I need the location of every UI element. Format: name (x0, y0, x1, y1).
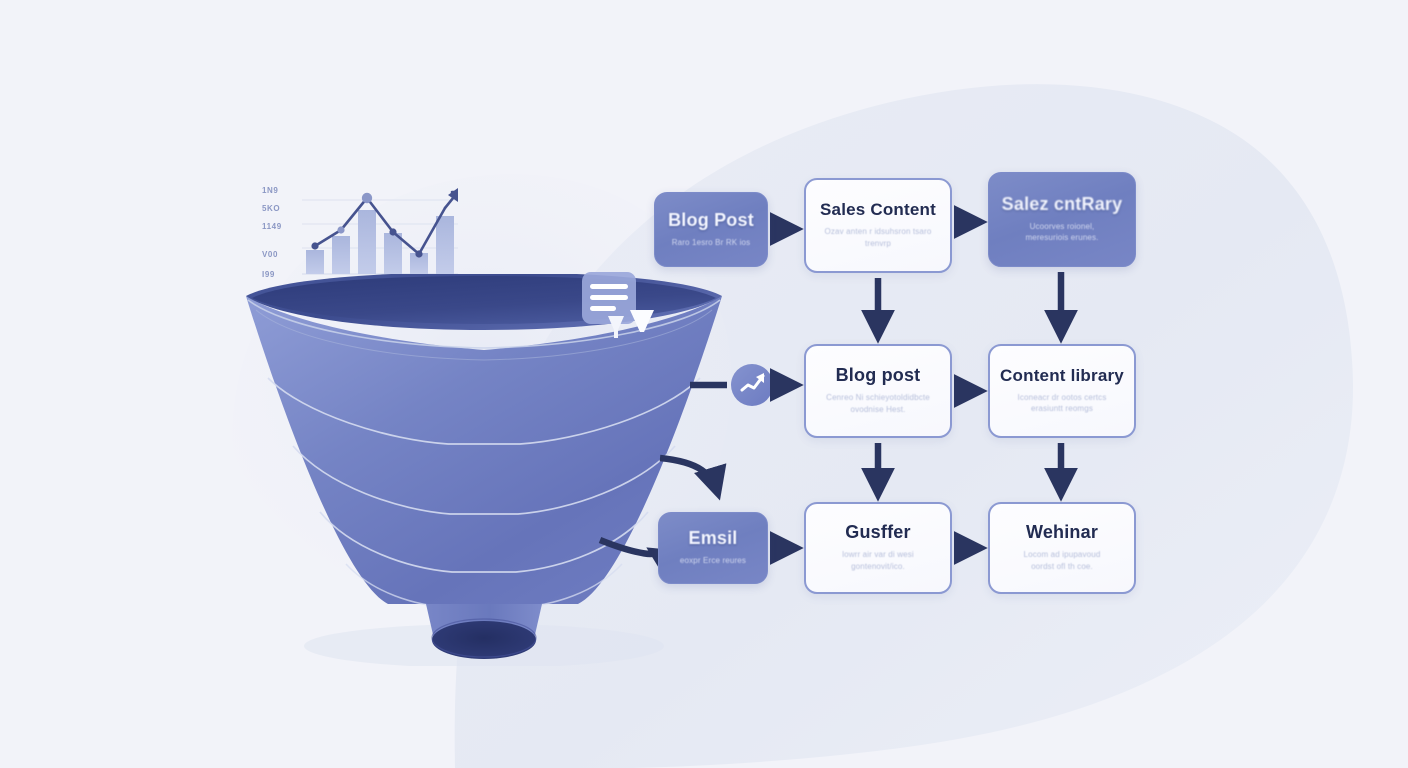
card-title: Blog Post (668, 211, 754, 230)
card-email[interactable]: Emsil eoxpr Erce reures (658, 512, 768, 584)
card-subtitle: Locom ad ipupavoud oordst ofl th coe. (1024, 549, 1101, 572)
card-title: Gusffer (845, 523, 910, 542)
card-subtitle: Cenreo Ni schieyotoldidbcte ovodnise Hes… (826, 392, 930, 415)
card-blog-post-top[interactable]: Blog Post Raro 1esro Br RK ios (654, 192, 768, 267)
card-subtitle: Ucoorves roionel, meresuriois erunes. (1025, 221, 1098, 244)
card-content-library[interactable]: Content library Iconeacr dr ootos certcs… (988, 344, 1136, 438)
card-title: Content library (1000, 367, 1124, 385)
diagram-canvas: 1N9 5KO 1149 V00 I99 (0, 0, 1408, 768)
card-title: Blog post (836, 366, 921, 385)
card-title: Salez cntRary (1002, 195, 1123, 214)
card-blog-post[interactable]: Blog post Cenreo Ni schieyotoldidbcte ov… (804, 344, 952, 438)
card-subtitle: Ozav anten r idsuhsron tsaro trenvrp (818, 226, 938, 249)
card-subtitle: Raro 1esro Br RK ios (672, 237, 751, 249)
card-title: Wehinar (1026, 523, 1098, 542)
arrow-funnel-to-email-lower (600, 540, 654, 554)
arrow-funnel-to-email-upper (660, 458, 718, 494)
card-subtitle: lowrr air var di wesi gontenovit/ico. (842, 549, 914, 572)
card-webinar[interactable]: Wehinar Locom ad ipupavoud oordst ofl th… (988, 502, 1136, 594)
card-gated-offer[interactable]: Gusffer lowrr air var di wesi gontenovit… (804, 502, 952, 594)
connector-arrows (0, 0, 1408, 768)
card-title: Emsil (688, 529, 737, 548)
card-sales-content[interactable]: Sales Content Ozav anten r idsuhsron tsa… (804, 178, 952, 273)
card-subtitle: eoxpr Erce reures (680, 555, 746, 567)
card-title: Sales Content (820, 201, 936, 219)
card-sales-library[interactable]: Salez cntRary Ucoorves roionel, meresuri… (988, 172, 1136, 267)
card-subtitle: Iconeacr dr ootos certcs erasiuntt reomg… (1018, 392, 1107, 415)
